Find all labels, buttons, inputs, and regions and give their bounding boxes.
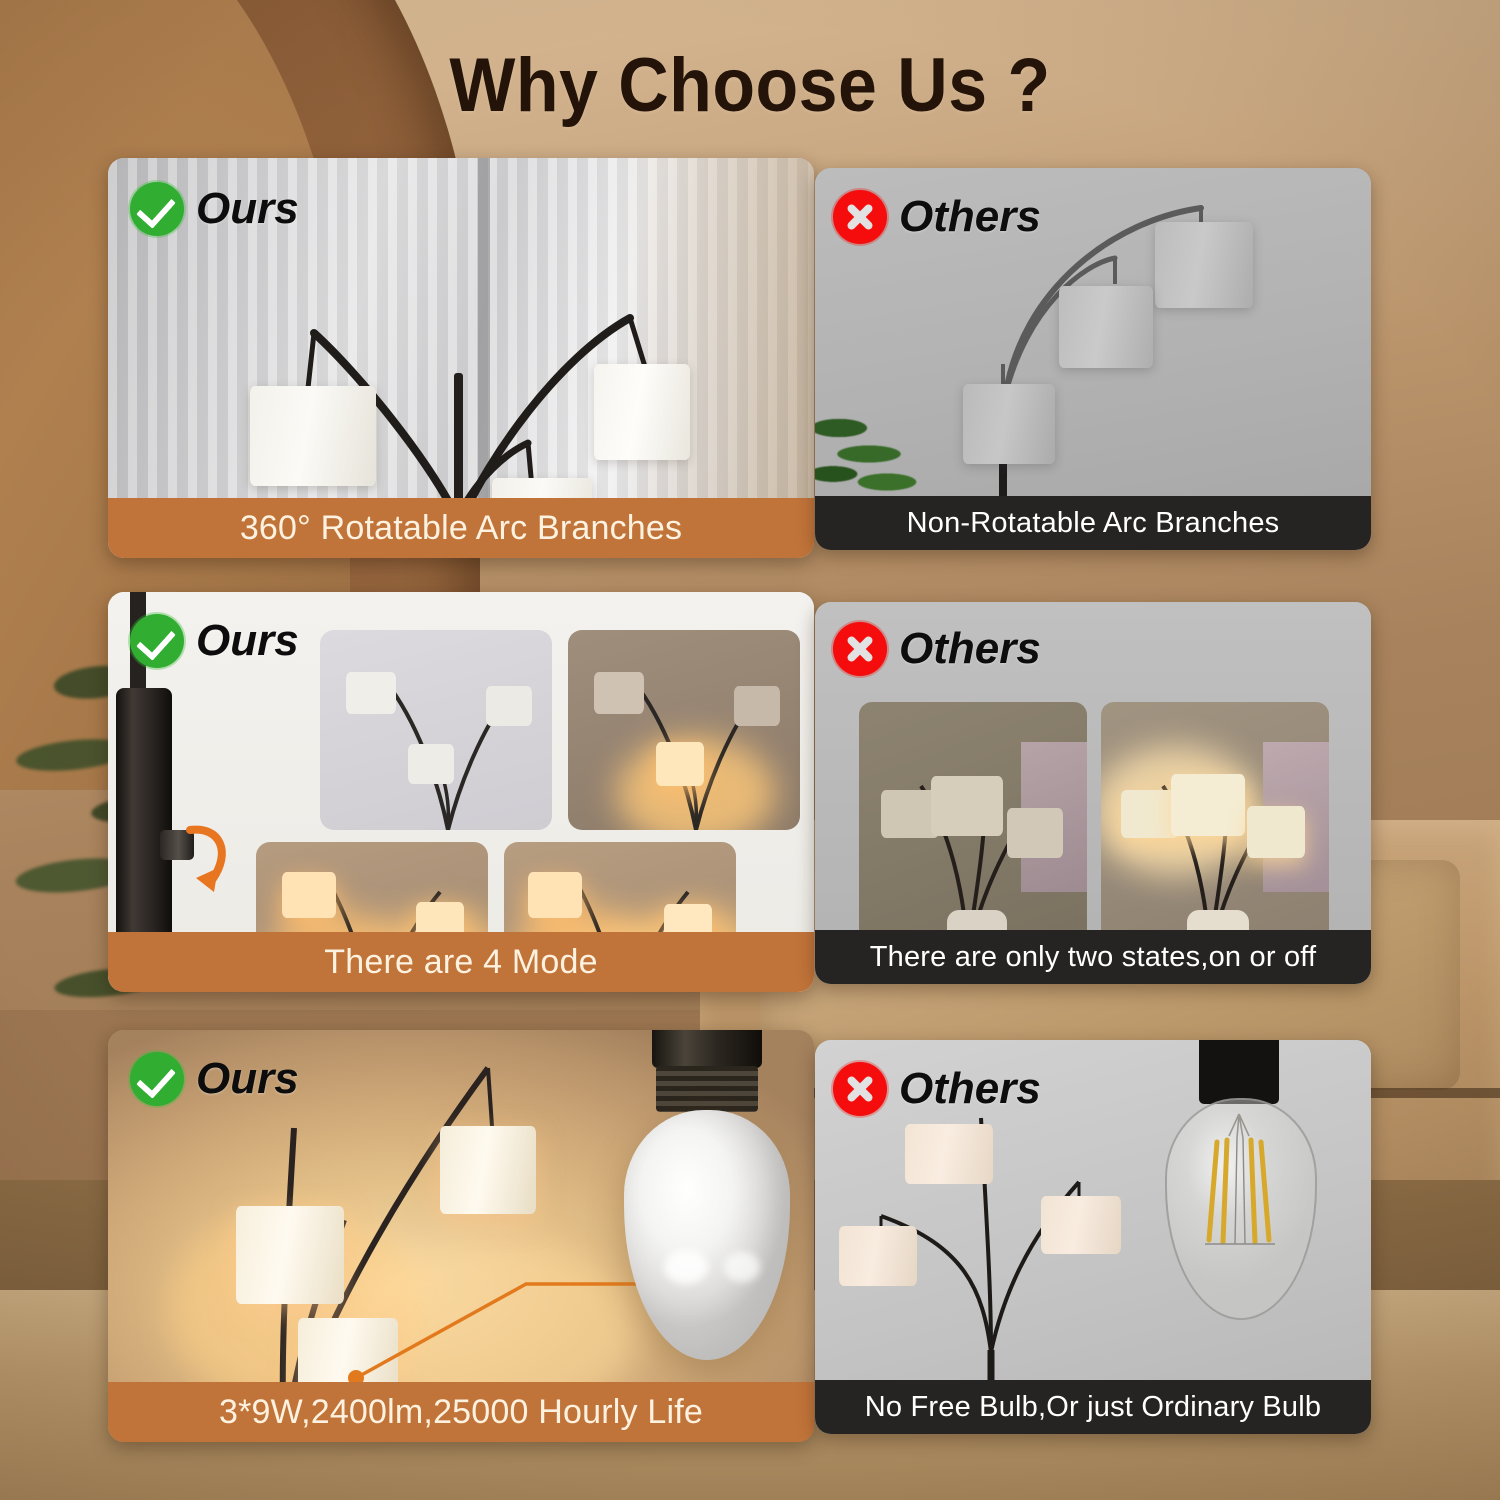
check-circle-icon bbox=[130, 1052, 184, 1106]
lamp-shade-right bbox=[594, 364, 690, 460]
mode-thumbnail-1 bbox=[320, 630, 552, 830]
badge-label: Others bbox=[899, 1067, 1041, 1111]
caption-ours-rotation: 360° Rotatable Arc Branches bbox=[108, 498, 814, 558]
bulb-cap bbox=[652, 1030, 762, 1068]
comparison-card-ours-modes: There are 4 Mode Ours bbox=[108, 592, 814, 992]
badge-label: Ours bbox=[196, 187, 299, 231]
mode-thumbnail-2 bbox=[568, 630, 800, 830]
others-plant bbox=[815, 408, 939, 504]
badge-label: Ours bbox=[196, 1057, 299, 1101]
bulb-screw-base bbox=[656, 1066, 758, 1112]
caption-others-rotation: Non-Rotatable Arc Branches bbox=[815, 496, 1371, 550]
badge-label: Others bbox=[899, 627, 1041, 671]
x-circle-icon bbox=[833, 622, 887, 676]
badge-others-rotation: Others bbox=[833, 190, 1041, 244]
page-title: Why Choose Us ? bbox=[60, 42, 1440, 129]
check-circle-icon bbox=[130, 182, 184, 236]
bulb-highlight-2 bbox=[724, 1252, 760, 1282]
bulb-highlight-1 bbox=[664, 1250, 708, 1284]
state-thumbnail-on bbox=[1101, 702, 1329, 942]
badge-label: Others bbox=[899, 195, 1041, 239]
ordinary-bulb-cap bbox=[1199, 1040, 1279, 1104]
caption-ours-bulb: 3*9W,2400lm,25000 Hourly Life bbox=[108, 1382, 814, 1442]
caption-ours-modes: There are 4 Mode bbox=[108, 932, 814, 992]
comparison-card-others-bulb: No Free Bulb,Or just Ordinary Bulb Other… bbox=[815, 1040, 1371, 1434]
badge-ours-rotation: Ours bbox=[130, 182, 299, 236]
lamp-shade-others-bottom bbox=[963, 384, 1055, 464]
caption-others-bulb: No Free Bulb,Or just Ordinary Bulb bbox=[815, 1380, 1371, 1434]
lamp-shade-others-bulb-top bbox=[905, 1124, 993, 1184]
switch-rotation-arrow-icon bbox=[182, 812, 262, 902]
lamp-shade-left bbox=[250, 386, 376, 486]
lamp-shade-others-top bbox=[1155, 222, 1253, 308]
caption-others-modes: There are only two states,on or off bbox=[815, 930, 1371, 984]
comparison-card-ours-rotation: 360° Rotatable Arc Branches Ours bbox=[108, 158, 814, 558]
state-thumbnail-off bbox=[859, 702, 1087, 942]
comparison-card-ours-bulb: 3*9W,2400lm,25000 Hourly Life Ours bbox=[108, 1030, 814, 1442]
lamp-shade-others-bulb-right bbox=[1041, 1196, 1121, 1254]
badge-label: Ours bbox=[196, 619, 299, 663]
x-circle-icon bbox=[833, 1062, 887, 1116]
bulb-filament-icon bbox=[1165, 1108, 1313, 1298]
lamp-shade-others-mid bbox=[1059, 286, 1153, 368]
lamp-shade-others-bulb-left bbox=[839, 1226, 917, 1286]
badge-others-modes: Others bbox=[833, 622, 1041, 676]
comparison-card-others-modes: There are only two states,on or off Othe… bbox=[815, 602, 1371, 984]
comparison-card-others-rotation: Non-Rotatable Arc Branches Others bbox=[815, 168, 1371, 550]
x-circle-icon bbox=[833, 190, 887, 244]
badge-ours-bulb: Ours bbox=[130, 1052, 299, 1106]
check-circle-icon bbox=[130, 614, 184, 668]
badge-ours-modes: Ours bbox=[130, 614, 299, 668]
badge-others-bulb: Others bbox=[833, 1062, 1041, 1116]
